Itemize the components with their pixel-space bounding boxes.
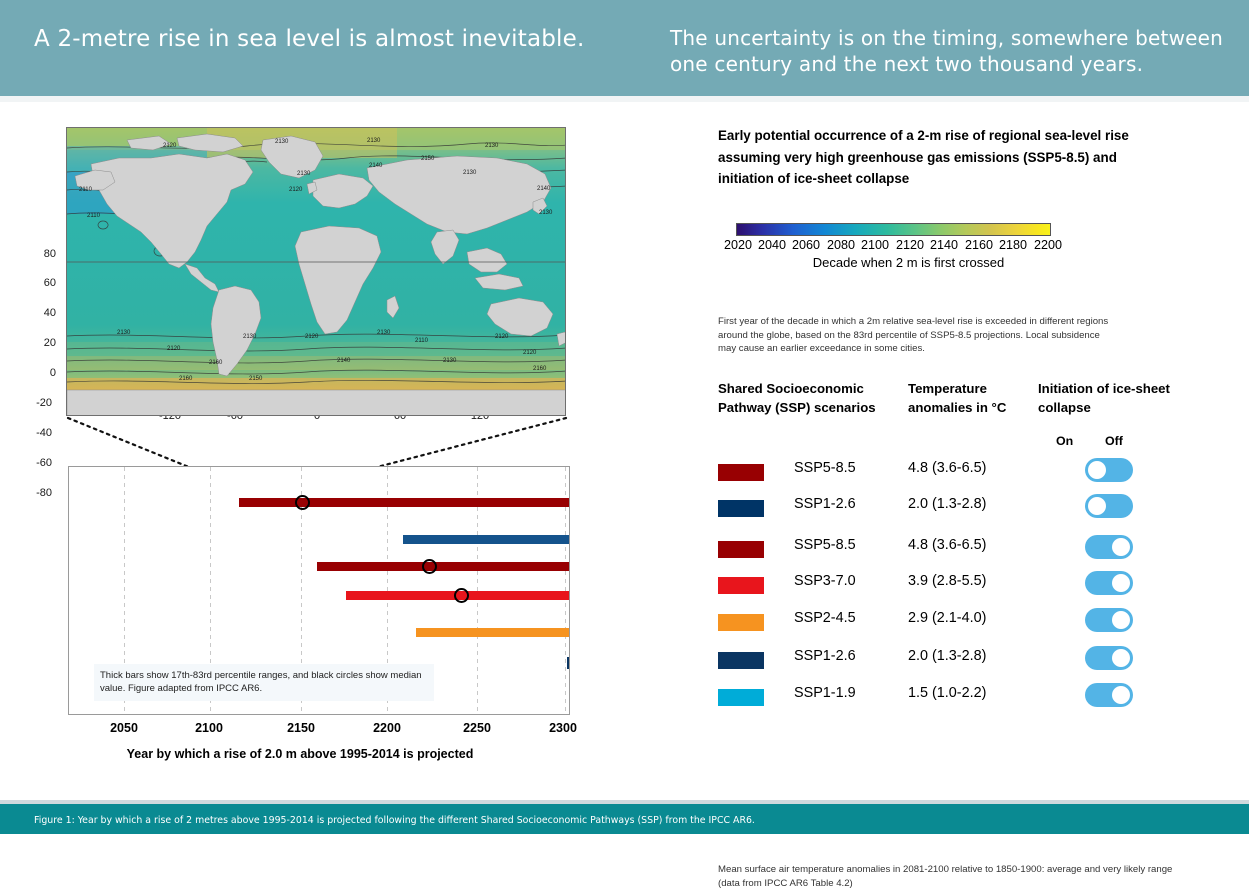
chart-note: Thick bars show 17th-83rd percentile ran…: [94, 664, 434, 701]
toggle-knob: [1112, 649, 1130, 667]
scenario-name: SSP5-8.5: [794, 537, 856, 553]
colorbar-sublabel: Decade when 2 m is first crossed: [736, 255, 1081, 270]
scenario-name: SSP3-7.0: [794, 573, 856, 589]
scenario-name: SSP5-8.5: [794, 460, 856, 476]
table-header-temperature: Temperature anomalies in °C: [908, 380, 1038, 417]
scenario-temperature: 2.0 (1.3-2.8): [908, 648, 986, 664]
svg-text:2130: 2130: [243, 334, 257, 340]
map-ytick-60: 60: [30, 277, 56, 289]
header-divider: [0, 96, 1249, 102]
svg-text:2140: 2140: [369, 163, 383, 169]
page-footer: Figure 1: Year by which a rise of 2 metr…: [0, 804, 1249, 834]
scenario-name: SSP1-1.9: [794, 685, 856, 701]
ice-sheet-toggle[interactable]: [1085, 458, 1133, 482]
svg-text:2130: 2130: [463, 170, 477, 176]
gantt-xtick-2250: 2250: [442, 721, 512, 735]
toggle-knob: [1088, 461, 1106, 479]
right-panel: Early potential occurrence of a 2-m rise…: [718, 125, 1238, 190]
scenario-temperature: 4.8 (3.6-6.5): [908, 537, 986, 553]
map-ytick-m40: -40: [26, 427, 52, 439]
scenario-temperature: 1.5 (1.0-2.2): [908, 685, 986, 701]
svg-text:2140: 2140: [537, 186, 551, 192]
range-bar-ssp126-on: [403, 535, 570, 544]
toggle-off-label: Off: [1105, 434, 1123, 448]
svg-text:2150: 2150: [421, 156, 435, 162]
gantt-axis-title: Year by which a rise of 2.0 m above 1995…: [0, 747, 600, 761]
colorbar-tick-2180: 2180: [995, 238, 1031, 252]
colorbar-tick-2020: 2020: [720, 238, 756, 252]
figure-caption: Figure 1: Year by which a rise of 2 metr…: [34, 815, 834, 828]
gantt-xtick-2300: 2300: [528, 721, 598, 735]
scenario-name: SSP1-2.6: [794, 496, 856, 512]
scenario-color-swatch: [718, 652, 764, 669]
scenario-color-swatch: [718, 500, 764, 517]
table-header-ice-sheet: Initiation of ice-sheet collapse: [1038, 380, 1218, 417]
svg-text:2140: 2140: [337, 358, 351, 364]
svg-text:2150: 2150: [249, 376, 263, 382]
toggle-knob: [1112, 538, 1130, 556]
svg-text:2160: 2160: [209, 360, 223, 366]
svg-text:2130: 2130: [377, 330, 391, 336]
colorbar-gradient: [736, 223, 1051, 236]
range-bar-ssp245-off: [416, 628, 570, 637]
table-row: SSP5-8.5 4.8 (3.6-6.5): [718, 458, 1238, 495]
median-marker-ssp585-on: [295, 495, 310, 510]
colorbar-tick-2200: 2200: [1030, 238, 1066, 252]
ice-sheet-toggle[interactable]: [1085, 571, 1133, 595]
svg-text:2120: 2120: [163, 143, 177, 149]
table-header-ssp: Shared Socioeconomic Pathway (SSP) scena…: [718, 380, 898, 417]
svg-text:2130: 2130: [367, 138, 381, 144]
scenario-color-swatch: [718, 541, 764, 558]
gantt-xtick-2050: 2050: [89, 721, 159, 735]
colorbar-tick-2140: 2140: [926, 238, 962, 252]
range-bar-ssp585-off: [317, 562, 570, 571]
table-row: SSP1-2.6 2.0 (1.3-2.8): [718, 646, 1238, 683]
toggle-knob: [1112, 611, 1130, 629]
svg-text:2160: 2160: [533, 366, 547, 372]
toggle-on-label: On: [1056, 434, 1073, 448]
colorbar-ticks: 2020 2040 2060 2080 2100 2120 2140 2160 …: [736, 238, 1081, 254]
colorbar-legend: 2020 2040 2060 2080 2100 2120 2140 2160 …: [736, 223, 1216, 270]
colorbar-tick-2080: 2080: [823, 238, 859, 252]
map-ytick-80: 80: [30, 248, 56, 260]
scenario-color-swatch: [718, 464, 764, 481]
map-ytick-m20: -20: [26, 397, 52, 409]
colorbar-tick-2040: 2040: [754, 238, 790, 252]
table-row: SSP3-7.0 3.9 (2.8-5.5): [718, 571, 1238, 608]
svg-text:2120: 2120: [305, 334, 319, 340]
svg-text:2120: 2120: [523, 350, 537, 356]
ice-sheet-toggle[interactable]: [1085, 646, 1133, 670]
scenario-color-swatch: [718, 577, 764, 594]
ice-sheet-toggle[interactable]: [1085, 494, 1133, 518]
header-title-left: A 2-metre rise in sea level is almost in…: [34, 24, 634, 54]
table-row: SSP1-2.6 2.0 (1.3-2.8): [718, 494, 1238, 531]
svg-text:2130: 2130: [485, 143, 499, 149]
svg-text:2110: 2110: [415, 338, 429, 344]
scenario-name: SSP2-4.5: [794, 610, 856, 626]
table-row: SSP2-4.5 2.9 (2.1-4.0): [718, 608, 1238, 645]
colorbar-tick-2100: 2100: [857, 238, 893, 252]
svg-text:2130: 2130: [443, 358, 457, 364]
scenario-temperature: 4.8 (3.6-6.5): [908, 460, 986, 476]
svg-text:2120: 2120: [167, 346, 181, 352]
svg-text:2130: 2130: [275, 139, 289, 145]
ice-sheet-toggle[interactable]: [1085, 535, 1133, 559]
table-row: SSP1-1.9 1.5 (1.0-2.2): [718, 683, 1238, 720]
gantt-xtick-2200: 2200: [352, 721, 422, 735]
gantt-xtick-2150: 2150: [266, 721, 336, 735]
map-ytick-40: 40: [30, 307, 56, 319]
scenario-temperature: 2.0 (1.3-2.8): [908, 496, 986, 512]
range-bar-ssp585-on: [239, 498, 570, 507]
median-marker-ssp370-off: [454, 588, 469, 603]
ice-sheet-toggle[interactable]: [1085, 608, 1133, 632]
table-row: SSP5-8.5 4.8 (3.6-6.5): [718, 535, 1238, 572]
toggle-knob: [1112, 574, 1130, 592]
colorbar-tick-2160: 2160: [961, 238, 997, 252]
map-ytick-20: 20: [30, 337, 56, 349]
header-title-right: The uncertainty is on the timing, somewh…: [670, 25, 1245, 77]
scenario-temperature: 3.9 (2.8-5.5): [908, 573, 986, 589]
gantt-xtick-2100: 2100: [174, 721, 244, 735]
gantt-plot-area: Thick bars show 17th-83rd percentile ran…: [68, 466, 570, 715]
svg-text:2160: 2160: [179, 376, 193, 382]
range-bar-ssp126-off: [567, 657, 570, 669]
scenario-color-swatch: [718, 614, 764, 631]
projection-range-chart: Thick bars show 17th-83rd percentile ran…: [0, 455, 600, 775]
median-marker-ssp585-off: [422, 559, 437, 574]
table-caption: Mean surface air temperature anomalies i…: [718, 863, 1188, 891]
map-caption: First year of the decade in which a 2m r…: [718, 315, 1118, 356]
panel-title: Early potential occurrence of a 2-m rise…: [718, 125, 1138, 190]
svg-text:2130: 2130: [297, 171, 311, 177]
world-map-canvas: 2120 2130 2130 2130 2110 2110 2130 2120 …: [66, 127, 566, 416]
toggle-knob: [1112, 686, 1130, 704]
toggle-knob: [1088, 497, 1106, 515]
svg-text:2130: 2130: [117, 330, 131, 336]
scenario-color-swatch: [718, 689, 764, 706]
colorbar-tick-2120: 2120: [892, 238, 928, 252]
svg-text:2120: 2120: [289, 187, 303, 193]
scenario-temperature: 2.9 (2.1-4.0): [908, 610, 986, 626]
colorbar-tick-2060: 2060: [788, 238, 824, 252]
svg-text:2110: 2110: [79, 187, 93, 193]
svg-text:2130: 2130: [539, 210, 553, 216]
world-map-figure: 80 60 40 20 0 -20 -40 -60 -80 -120 -60 0…: [0, 110, 600, 440]
svg-text:2120: 2120: [495, 334, 509, 340]
ice-sheet-toggle[interactable]: [1085, 683, 1133, 707]
svg-text:2110: 2110: [87, 213, 101, 219]
map-ytick-0: 0: [30, 367, 56, 379]
page-header: A 2-metre rise in sea level is almost in…: [0, 0, 1249, 96]
scenario-name: SSP1-2.6: [794, 648, 856, 664]
